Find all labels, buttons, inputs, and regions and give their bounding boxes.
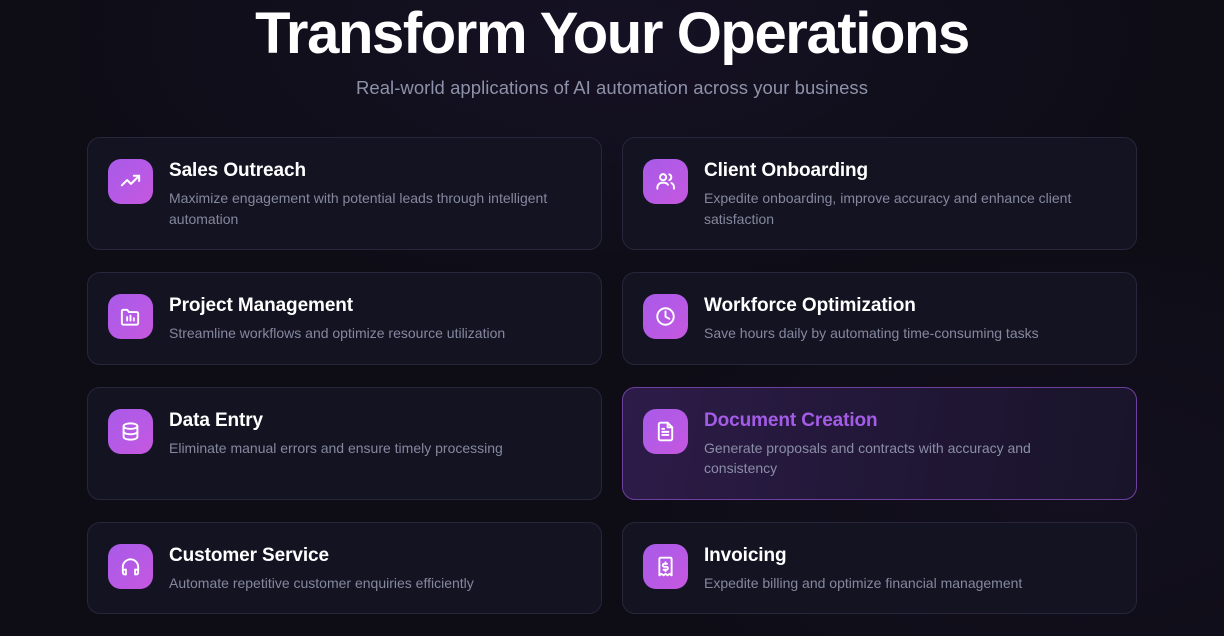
card-description: Automate repetitive customer enquiries e… — [169, 573, 564, 594]
card-description: Maximize engagement with potential leads… — [169, 188, 564, 229]
card-title: Data Entry — [169, 409, 579, 433]
receipt-dollar-icon — [643, 544, 688, 589]
users-icon — [643, 159, 688, 204]
card-title: Client Onboarding — [704, 159, 1114, 183]
card-title: Workforce Optimization — [704, 294, 1114, 318]
card-body: Invoicing Expedite billing and optimize … — [704, 543, 1114, 594]
folder-kanban-icon — [108, 294, 153, 339]
card-body: Data Entry Eliminate manual errors and e… — [169, 408, 579, 459]
feature-card-client-onboarding[interactable]: Client Onboarding Expedite onboarding, i… — [622, 137, 1137, 250]
clock-icon — [643, 294, 688, 339]
card-body: Customer Service Automate repetitive cus… — [169, 543, 579, 594]
file-text-icon — [643, 409, 688, 454]
card-body: Workforce Optimization Save hours daily … — [704, 293, 1114, 344]
card-title: Invoicing — [704, 544, 1114, 568]
feature-card-sales-outreach[interactable]: Sales Outreach Maximize engagement with … — [87, 137, 602, 250]
card-title: Document Creation — [704, 409, 1114, 433]
feature-card-grid: Sales Outreach Maximize engagement with … — [87, 137, 1137, 614]
page-title: Transform Your Operations — [0, 2, 1224, 66]
feature-card-document-creation[interactable]: Document Creation Generate proposals and… — [622, 387, 1137, 500]
card-description: Eliminate manual errors and ensure timel… — [169, 438, 564, 459]
card-description: Generate proposals and contracts with ac… — [704, 438, 1099, 479]
card-description: Streamline workflows and optimize resour… — [169, 323, 564, 344]
feature-card-customer-service[interactable]: Customer Service Automate repetitive cus… — [87, 522, 602, 615]
card-description: Expedite onboarding, improve accuracy an… — [704, 188, 1099, 229]
card-body: Project Management Streamline workflows … — [169, 293, 579, 344]
hero-section: Transform Your Operations Real-world app… — [0, 0, 1224, 100]
feature-card-workforce-optimization[interactable]: Workforce Optimization Save hours daily … — [622, 272, 1137, 365]
page-root: Transform Your Operations Real-world app… — [0, 0, 1224, 636]
feature-card-invoicing[interactable]: Invoicing Expedite billing and optimize … — [622, 522, 1137, 615]
page-subtitle: Real-world applications of AI automation… — [0, 76, 1224, 100]
card-body: Client Onboarding Expedite onboarding, i… — [704, 158, 1114, 229]
headphones-icon — [108, 544, 153, 589]
card-body: Sales Outreach Maximize engagement with … — [169, 158, 579, 229]
card-body: Document Creation Generate proposals and… — [704, 408, 1114, 479]
card-description: Expedite billing and optimize financial … — [704, 573, 1099, 594]
card-title: Project Management — [169, 294, 579, 318]
feature-card-project-management[interactable]: Project Management Streamline workflows … — [87, 272, 602, 365]
trending-up-icon — [108, 159, 153, 204]
card-description: Save hours daily by automating time-cons… — [704, 323, 1099, 344]
card-title: Sales Outreach — [169, 159, 579, 183]
feature-card-data-entry[interactable]: Data Entry Eliminate manual errors and e… — [87, 387, 602, 500]
database-icon — [108, 409, 153, 454]
card-title: Customer Service — [169, 544, 579, 568]
